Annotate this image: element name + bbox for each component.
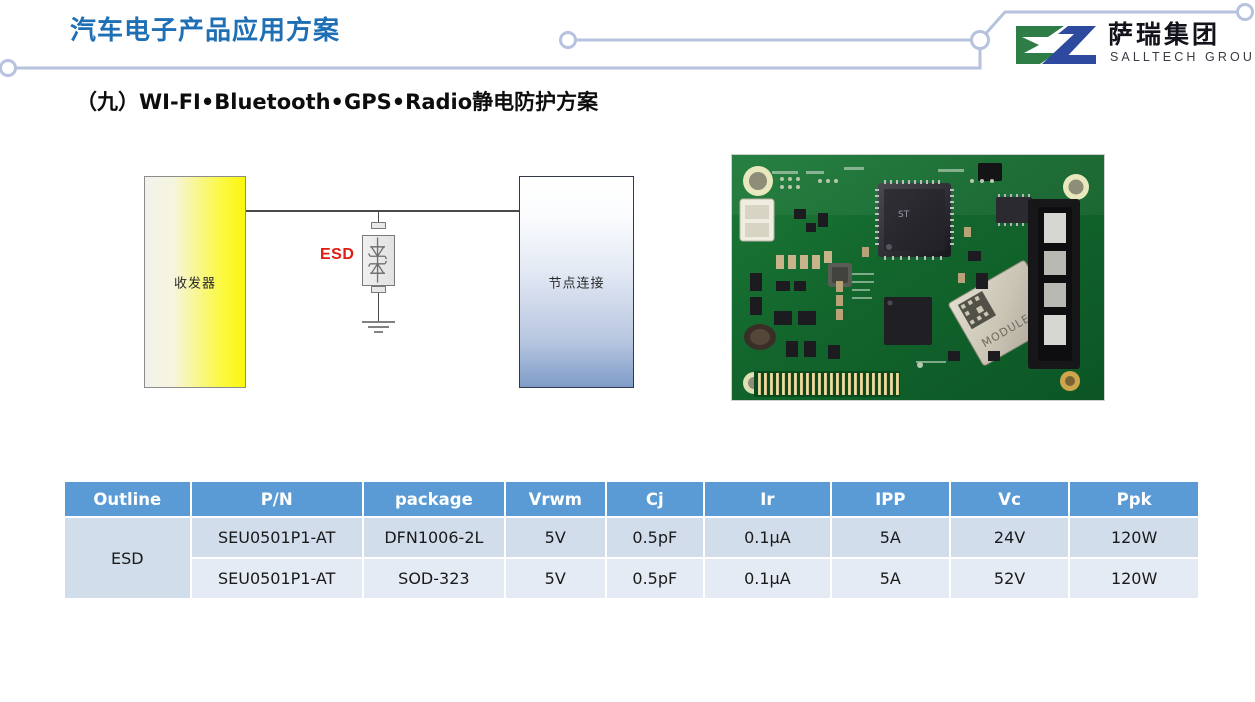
cell-ppk: 120W <box>1070 559 1198 598</box>
cell-pn: SEU0501P1-AT <box>192 559 362 598</box>
column-header-ppk: Ppk <box>1070 482 1198 516</box>
cell-pn: SEU0501P1-AT <box>192 518 362 557</box>
ground-symbol-icon <box>356 320 401 334</box>
column-header-vrwm: Vrwm <box>506 482 605 516</box>
salltech-sz-logo-icon <box>1012 22 1102 68</box>
node-connection-block: 节点连接 <box>519 176 634 388</box>
slide-root: 汽车电子产品应用方案 萨瑞集团 SALLTECH GROUP （九）WI-FI•… <box>0 0 1255 702</box>
cell-vc: 52V <box>951 559 1068 598</box>
outline-group-cell: ESD <box>65 518 190 598</box>
table-row: SEU0501P1-AT SOD-323 5V 0.5pF 0.1μA 5A 5… <box>65 559 1198 598</box>
column-header-package: package <box>364 482 504 516</box>
cell-vc: 24V <box>951 518 1068 557</box>
page-title: 汽车电子产品应用方案 <box>70 10 340 47</box>
cell-ipp: 5A <box>832 518 949 557</box>
ground-wire <box>378 292 380 322</box>
logo-name-en: SALLTECH GROUP <box>1110 50 1255 64</box>
table-row: ESD SEU0501P1-AT DFN1006-2L 5V 0.5pF 0.1… <box>65 518 1198 557</box>
cell-cj: 0.5pF <box>607 518 704 557</box>
column-header-pn: P/N <box>192 482 362 516</box>
cell-package: DFN1006-2L <box>364 518 504 557</box>
column-header-ir: Ir <box>705 482 830 516</box>
cell-package: SOD-323 <box>364 559 504 598</box>
cell-cj: 0.5pF <box>607 559 704 598</box>
cell-ir: 0.1μA <box>705 559 830 598</box>
tvs-bottom-terminal-icon <box>371 286 386 293</box>
column-header-cj: Cj <box>607 482 704 516</box>
pcb-board-photo: ST <box>731 154 1105 401</box>
brand-logo: 萨瑞集团 SALLTECH GROUP <box>1012 20 1250 72</box>
column-header-vc: Vc <box>951 482 1068 516</box>
transceiver-block: 收发器 <box>144 176 246 388</box>
tvs-diode-icon <box>362 235 395 286</box>
tvs-top-terminal-icon <box>371 222 386 229</box>
table-header-row: Outline P/N package Vrwm Cj Ir IPP Vc Pp… <box>65 482 1198 516</box>
pcb-photo-graphic: ST <box>732 155 1105 401</box>
cell-vrwm: 5V <box>506 559 605 598</box>
cell-ipp: 5A <box>832 559 949 598</box>
transceiver-label: 收发器 <box>145 273 245 292</box>
cell-ir: 0.1μA <box>705 518 830 557</box>
column-header-ipp: IPP <box>832 482 949 516</box>
signal-wire-horizontal <box>246 210 519 212</box>
logo-name-cn: 萨瑞集团 <box>1108 20 1220 50</box>
esd-component-label: ESD <box>320 246 354 264</box>
section-subtitle: （九）WI-FI•Bluetooth•GPS•Radio静电防护方案 <box>76 86 598 116</box>
svg-text:ST: ST <box>898 210 910 220</box>
tvs-diode-symbol <box>363 236 394 285</box>
cell-vrwm: 5V <box>506 518 605 557</box>
node-connection-label: 节点连接 <box>520 273 633 292</box>
slide-header: 汽车电子产品应用方案 萨瑞集团 SALLTECH GROUP <box>0 0 1255 90</box>
column-header-outline: Outline <box>65 482 190 516</box>
esd-spec-table: Outline P/N package Vrwm Cj Ir IPP Vc Pp… <box>63 480 1200 600</box>
esd-protection-schematic: 收发器 节点连接 ESD <box>130 160 650 410</box>
cell-ppk: 120W <box>1070 518 1198 557</box>
